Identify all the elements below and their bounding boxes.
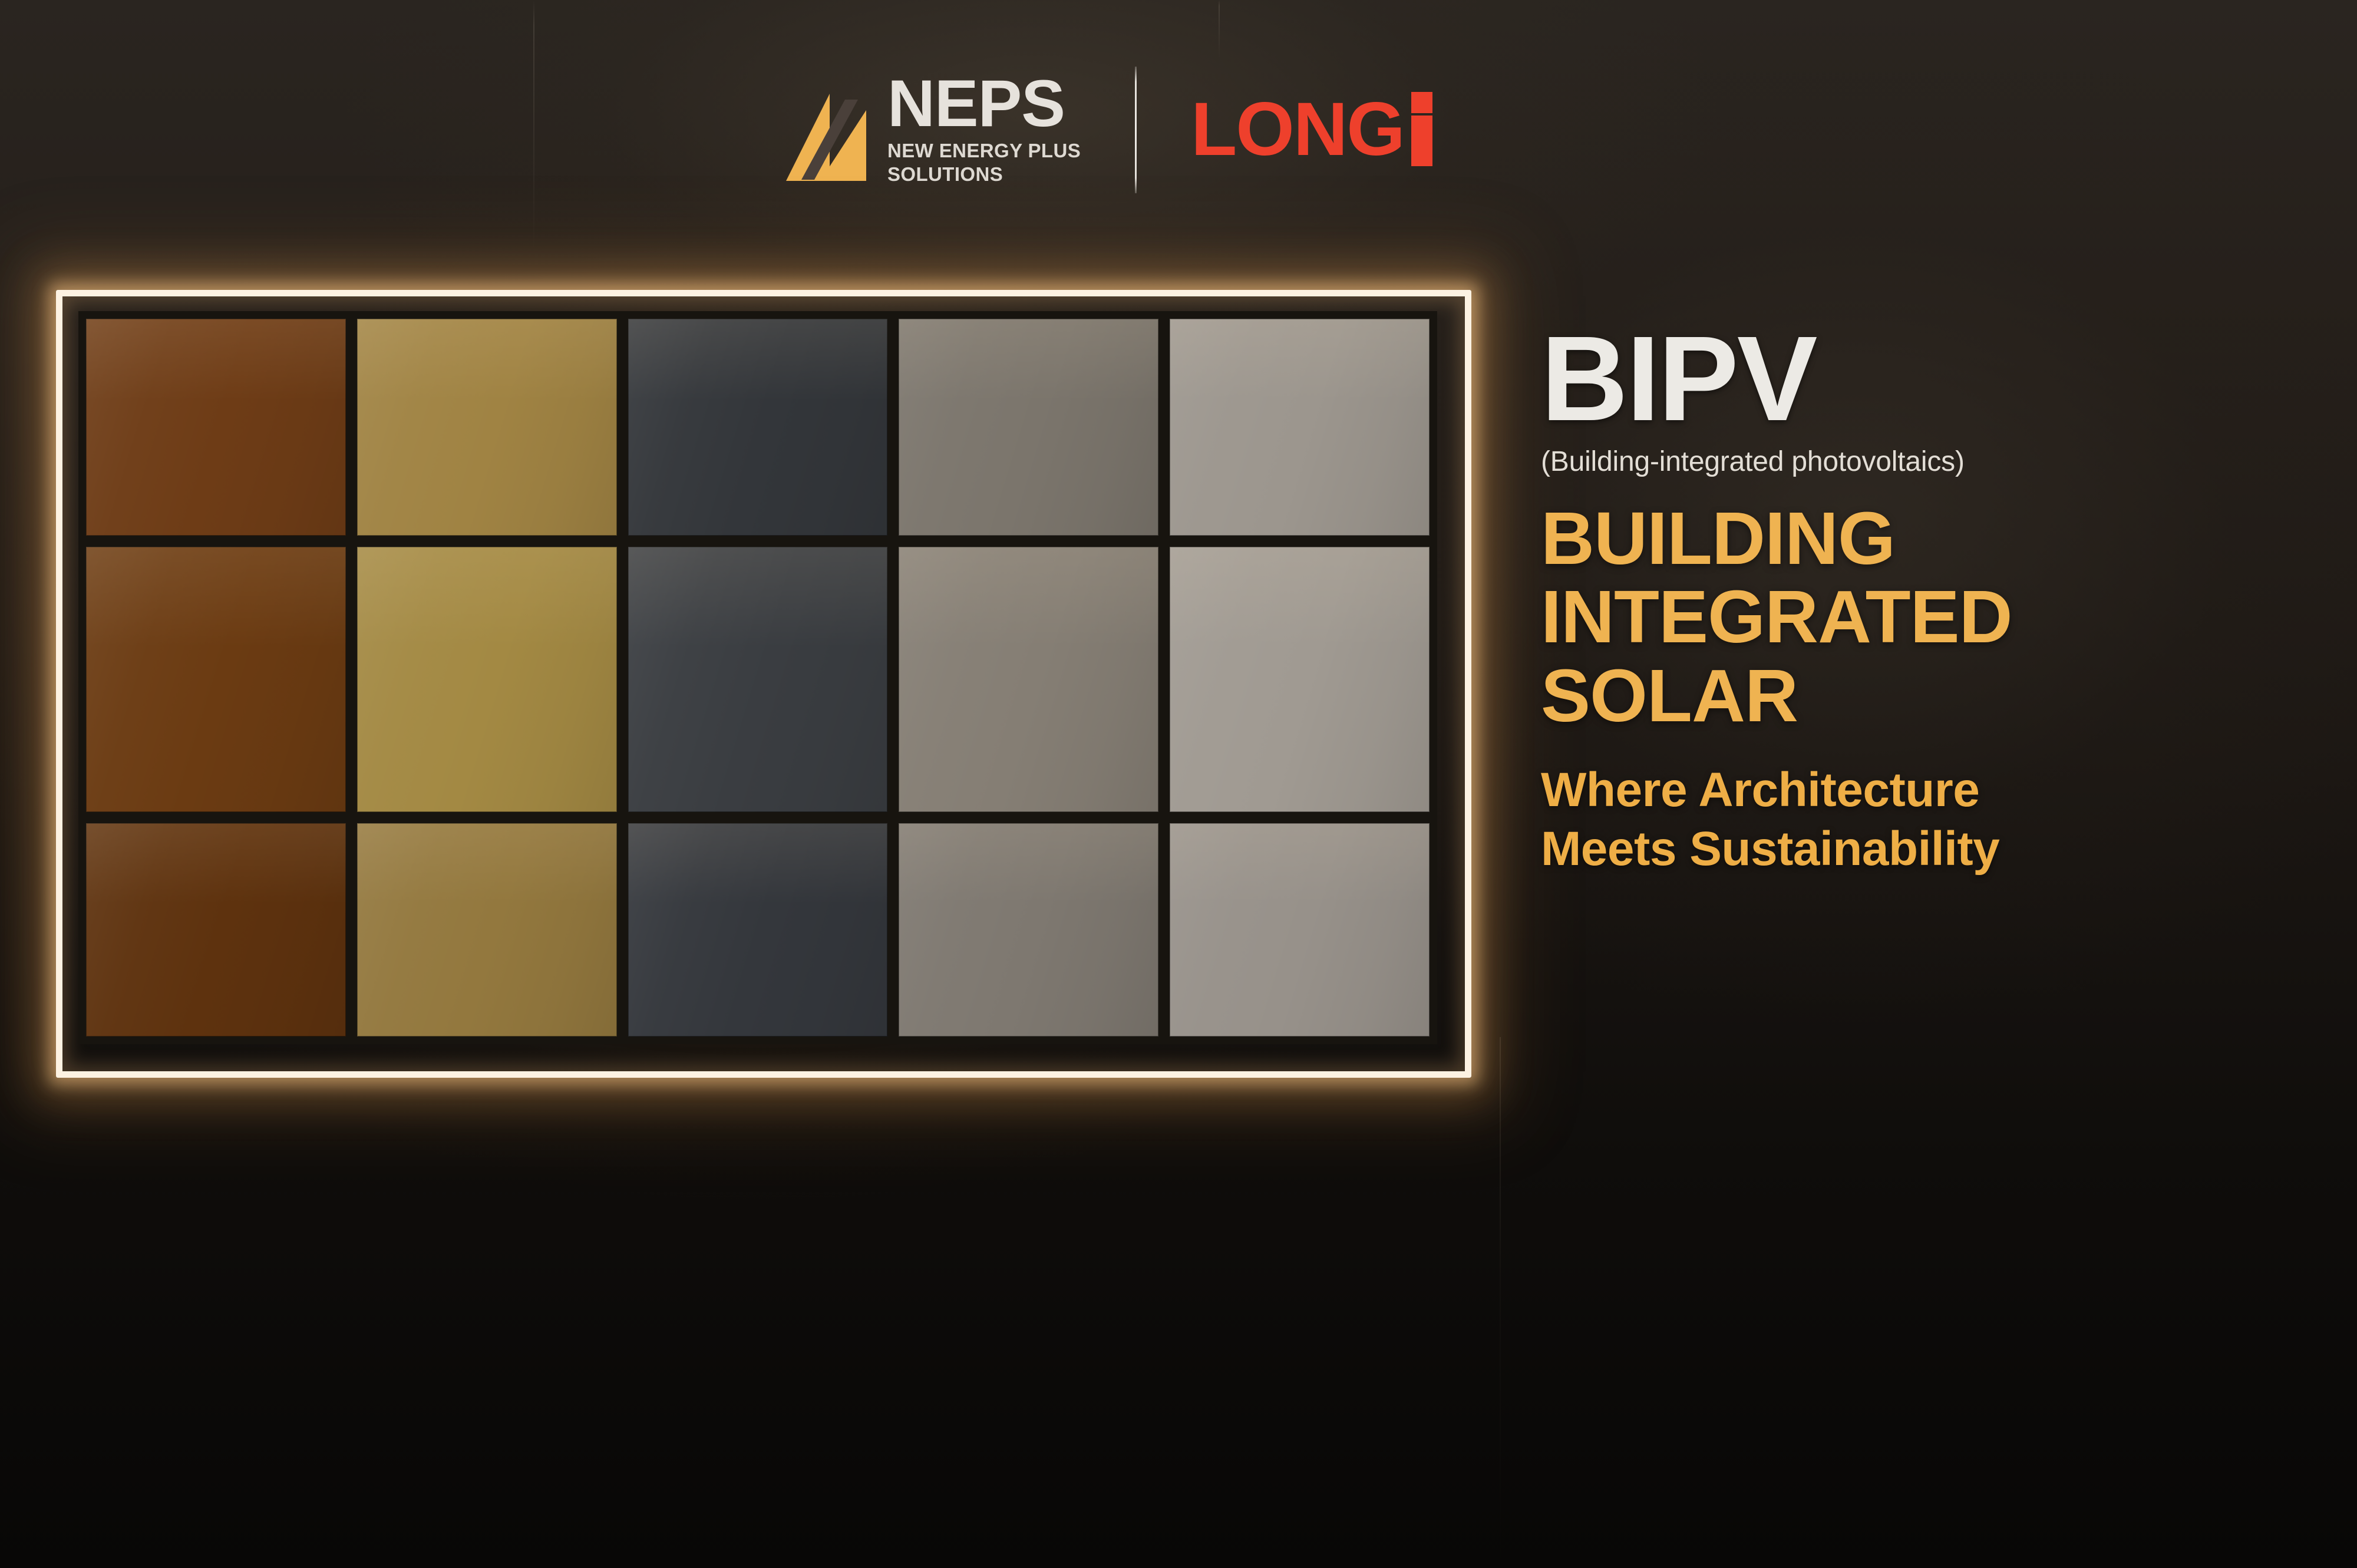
longi-wordmark: LONG [1191, 92, 1404, 167]
tile-light-falloff [899, 823, 1158, 905]
wall-panel-seam [1219, 0, 1220, 59]
neps-subtitle-1: NEW ENERGY PLUS [887, 139, 1081, 163]
signage-text-panel: BIPV (Building-integrated photovoltaics)… [1541, 321, 2313, 879]
neps-subtitle-2: SOLUTIONS [887, 163, 1081, 186]
bipv-tile-light-stone-gray [1170, 547, 1430, 812]
bipv-tile-champagne-gold [357, 319, 617, 536]
tile-light-falloff [628, 823, 888, 905]
bipv-tile-terracotta-bronze [86, 823, 346, 1036]
tile-light-falloff [899, 547, 1158, 648]
bipv-tile-warm-slate-gray [899, 319, 1158, 536]
tile-light-falloff [357, 319, 617, 401]
bipv-tile-graphite-black [628, 823, 888, 1036]
tile-light-falloff [628, 547, 888, 648]
tile-light-falloff [628, 319, 888, 401]
tagline: Where Architecture Meets Sustainability [1541, 761, 2313, 879]
tile-light-falloff [899, 319, 1158, 401]
bipv-panel-board [78, 311, 1437, 1044]
tagline-line-2: Meets Sustainability [1541, 820, 2313, 879]
tile-light-falloff [1170, 319, 1430, 401]
acronym-expansion: (Building-integrated photovoltaics) [1541, 447, 2313, 478]
bipv-tile-warm-slate-gray [899, 547, 1158, 812]
tile-light-falloff [357, 547, 617, 648]
neps-triangle-icon [784, 76, 872, 183]
bipv-tile-graphite-black [628, 319, 888, 536]
headline-line-2: INTEGRATED [1541, 577, 2313, 656]
page-title: BIPV [1541, 321, 2313, 437]
bipv-tile-champagne-gold [357, 547, 617, 812]
bipv-tile-grid [78, 311, 1437, 1044]
neps-wordmark: NEPS NEW ENERGY PLUS SOLUTIONS [887, 73, 1081, 187]
neps-logo[interactable]: NEPS NEW ENERGY PLUS SOLUTIONS [784, 73, 1081, 187]
tile-light-falloff [357, 823, 617, 905]
headline-line-1: BUILDING [1541, 499, 2313, 578]
logo-bar: NEPS NEW ENERGY PLUS SOLUTIONS LONG [784, 56, 1650, 203]
wall-panel-seam [533, 0, 534, 253]
bipv-tile-light-stone-gray [1170, 823, 1430, 1036]
bipv-tile-champagne-gold [357, 823, 617, 1036]
bipv-tile-light-stone-gray [1170, 319, 1430, 536]
exhibit-wall-scene: NEPS NEW ENERGY PLUS SOLUTIONS LONG BIPV… [0, 0, 2357, 1568]
bipv-tile-terracotta-bronze [86, 319, 346, 536]
tile-light-falloff [86, 547, 346, 648]
longi-logo[interactable]: LONG [1191, 92, 1432, 167]
bipv-tile-warm-slate-gray [899, 823, 1158, 1036]
tile-light-falloff [86, 823, 346, 905]
tagline-line-1: Where Architecture [1541, 761, 2313, 820]
vertical-divider-icon [1135, 67, 1137, 193]
tile-light-falloff [1170, 823, 1430, 905]
tile-light-falloff [86, 319, 346, 401]
longi-i-letter-icon [1411, 92, 1432, 167]
headline: BUILDING INTEGRATED SOLAR [1541, 499, 2313, 735]
bipv-tile-graphite-black [628, 547, 888, 812]
tile-light-falloff [1170, 547, 1430, 648]
headline-line-3: SOLAR [1541, 656, 2313, 735]
neps-title: NEPS [887, 73, 1081, 134]
bipv-tile-terracotta-bronze [86, 547, 346, 812]
